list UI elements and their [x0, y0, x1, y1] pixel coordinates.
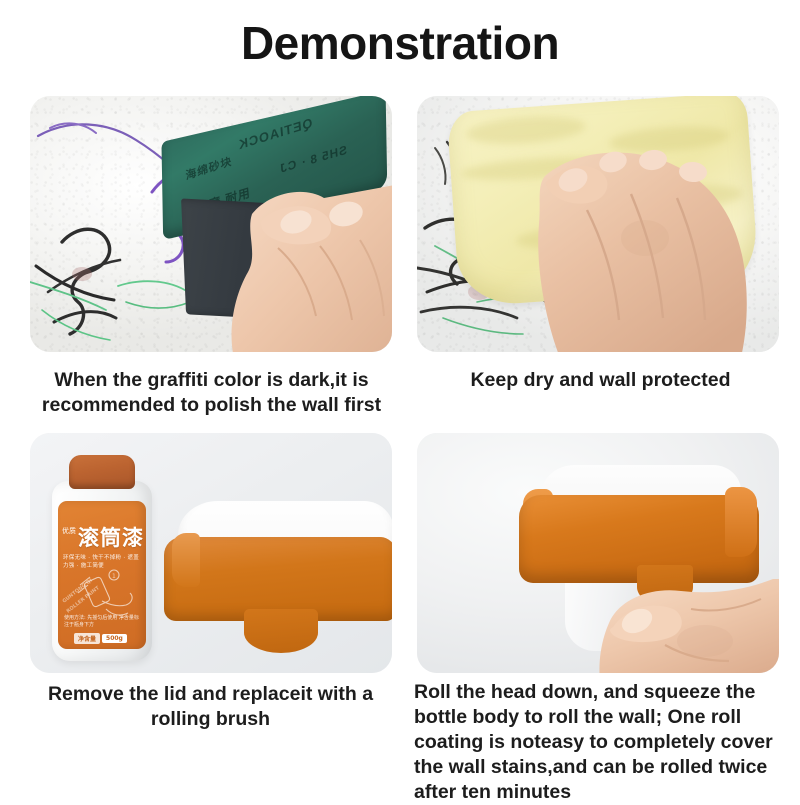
page-title: Demonstration: [0, 16, 800, 70]
label-product-name: 滚筒漆: [78, 527, 144, 549]
weight-value: 500g: [102, 634, 127, 643]
panel-4-caption: Roll the head down, and squeeze the bott…: [414, 680, 786, 805]
panel-3-caption: Remove the lid and replaceit with a roll…: [18, 682, 403, 732]
hand: [521, 120, 771, 352]
panel-2-image: [417, 96, 779, 352]
roller-side-lip: [172, 533, 200, 587]
weight-mark: 净含量: [74, 633, 100, 644]
roller-stem: [244, 609, 318, 653]
panel-2-caption: Keep dry and wall protected: [408, 368, 793, 393]
panel-3-image: 优质 滚筒漆 环保无味 · 快干不掉粉 · 遮盖力强 · 施工简便 1 GUNT…: [30, 433, 392, 673]
paint-bottle: 优质 滚筒漆 环保无味 · 快干不掉粉 · 遮盖力强 · 施工简便 1 GUNT…: [52, 455, 152, 660]
bottle-cap: [69, 455, 135, 489]
panel-1-caption: When the graffiti color is dark,it is re…: [14, 368, 409, 418]
hand: [200, 136, 392, 352]
hand: [595, 549, 779, 673]
bottle-label: 优质 滚筒漆 环保无味 · 快干不掉粉 · 遮盖力强 · 施工简便 1 GUNT…: [58, 501, 146, 649]
roller-right-ear: [725, 487, 757, 557]
label-weight: 净含量 500g: [74, 633, 127, 644]
label-footer: 使用方法: 先摇匀后使用 净含量标注于瓶身下方: [64, 615, 140, 629]
panel-1-image: QETIAOCK 海绵砂块 SH5 8 · CJ 打磨 耐用: [30, 96, 392, 352]
demonstration-page: Demonstration QETIAOCK 海绵砂块: [0, 0, 800, 800]
panel-4-image: [417, 433, 779, 673]
roller-brush-head: [164, 501, 392, 656]
svg-text:1: 1: [112, 573, 116, 580]
label-badge: 优质: [62, 527, 76, 535]
